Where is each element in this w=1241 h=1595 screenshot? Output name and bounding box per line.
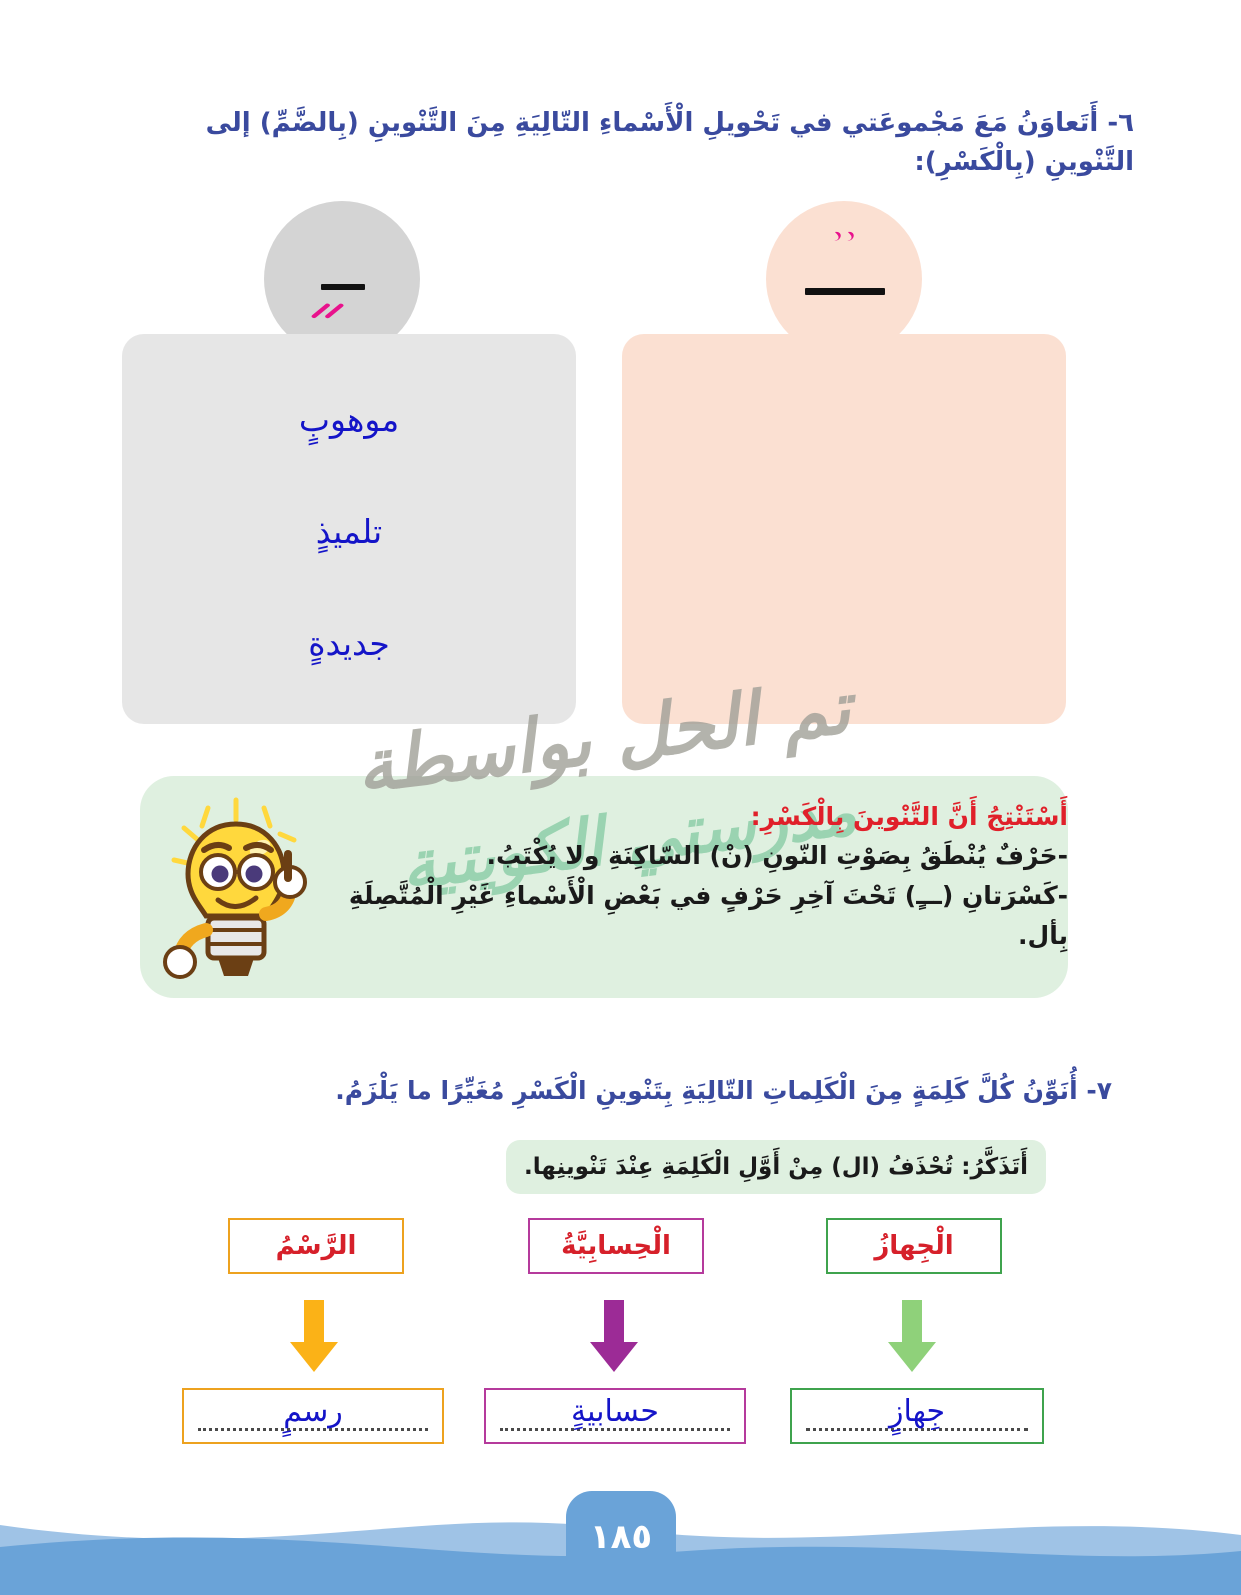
answer-box-hisabiyya[interactable]: حسابيةٍ <box>484 1388 746 1444</box>
dammatan-icon <box>829 228 863 254</box>
dammatan-mark <box>829 228 863 260</box>
answer-text: رسمٍ <box>184 1390 442 1442</box>
word-box-jihaz: الْجِهازُ <box>826 1218 1002 1274</box>
conclusion-title: أَسْتَنْتِجُ أَنَّ التَّنْوينَ بِالْكَسْ… <box>300 798 1068 836</box>
answer-text: حسابيةٍ <box>486 1390 744 1442</box>
exercise-7-prompt: ٧- أُنَوِّنُ كُلَّ كَلِمَةٍ مِنَ الْكَلِ… <box>112 1072 1112 1110</box>
conclusion-line-1: -حَرْفٌ يُنْطَقُ بِصَوْتِ النّونِ (نْ) ا… <box>300 836 1068 876</box>
dammatan-baseline-bar <box>805 288 885 295</box>
exercise-6-prompt: ٦- أَتَعاوَنُ مَعَ مَجْموعَتي في تَحْويل… <box>112 104 1134 182</box>
answer-text: جديدةٍ <box>308 627 390 660</box>
word-box-rasm: الرَّسْمُ <box>228 1218 404 1274</box>
answer-text: تلميذٍ <box>316 515 382 548</box>
word-box-label: الْحِسابِيَّةُ <box>561 1233 671 1259</box>
down-arrow-icon <box>884 1300 940 1374</box>
page-number: ١٨٥ <box>590 1517 652 1557</box>
source-words-panel <box>622 334 1066 724</box>
down-arrow-icon <box>286 1300 342 1374</box>
textbook-page: ٦- أَتَعاوَنُ مَعَ مَجْموعَتي في تَحْويل… <box>0 0 1241 1595</box>
lightbulb-character-icon <box>148 790 318 990</box>
word-box-label: الْجِهازُ <box>874 1233 953 1259</box>
conclusion-line-2: -كَسْرَتانِ (ـــٍ) تَحْتَ آخِرِ حَرْفٍ ف… <box>300 876 1068 956</box>
down-arrow-icon <box>586 1300 642 1374</box>
page-number-tab: ١٨٥ <box>566 1491 676 1595</box>
word-box-label: الرَّسْمُ <box>276 1233 357 1259</box>
kasratan-icon <box>309 301 357 322</box>
kasratan-baseline-bar <box>321 284 365 290</box>
conclusion-text: أَسْتَنْتِجُ أَنَّ التَّنْوينَ بِالْكَسْ… <box>300 798 1068 956</box>
answer-box-jihaz[interactable]: جِهازٍ <box>790 1388 1044 1444</box>
kasratan-mark <box>308 296 357 329</box>
answer-text: جِهازٍ <box>792 1390 1042 1442</box>
word-box-hisabiyya: الْحِسابِيَّةُ <box>528 1218 704 1274</box>
reminder-text: أَتَذَكَّرُ: تُحْذَفُ (ال) مِنْ أَوَّلِ … <box>524 1154 1028 1180</box>
answer-box-rasm[interactable]: رسمٍ <box>182 1388 444 1444</box>
answer-text: موهوبٍ <box>299 403 399 436</box>
reminder-box: أَتَذَكَّرُ: تُحْذَفُ (ال) مِنْ أَوَّلِ … <box>506 1140 1046 1194</box>
